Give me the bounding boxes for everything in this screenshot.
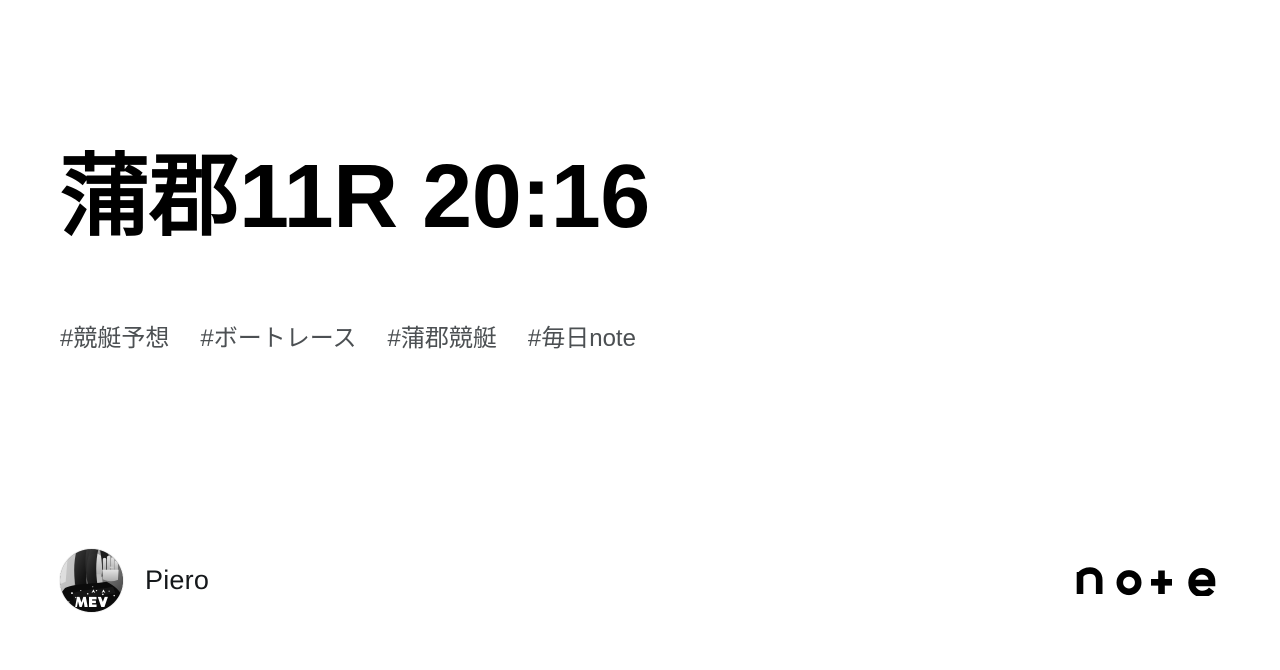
title-block: 蒲郡11R 20:16 [60, 140, 1220, 255]
hashtag-list: #競艇予想 #ボートレース #蒲郡競艇 #毎日note [60, 322, 636, 356]
hashtag-item-1[interactable]: #ボートレース [200, 322, 356, 356]
author-block[interactable]: Piero [60, 549, 209, 612]
author-name: Piero [145, 565, 209, 596]
hashtag-item-0[interactable]: #競艇予想 [60, 322, 169, 356]
note-brand-logo[interactable] [1076, 564, 1220, 596]
article-header-page: 蒲郡11R 20:16 #競艇予想 #ボートレース #蒲郡競艇 #毎日note [0, 0, 1280, 670]
hashtag-item-3[interactable]: #毎日note [528, 322, 636, 356]
hashtag-item-2[interactable]: #蒲郡競艇 [388, 322, 497, 356]
page-title: 蒲郡11R 20:16 [60, 140, 1220, 255]
footer: Piero [0, 540, 1280, 620]
avatar[interactable] [60, 549, 123, 612]
note-logo-icon [1076, 564, 1220, 596]
